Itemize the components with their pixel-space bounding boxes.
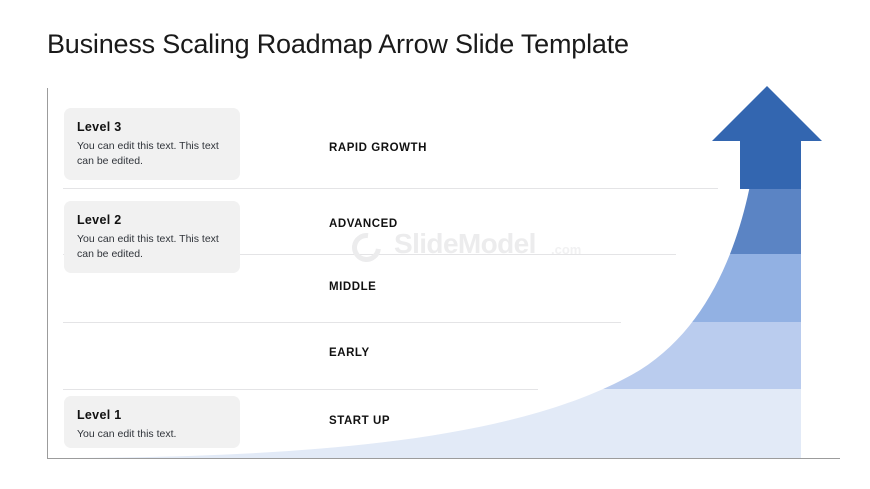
arrow-band-early xyxy=(40,322,810,389)
arrow-head-icon xyxy=(712,86,822,160)
level-card-1-title: Level 1 xyxy=(77,408,227,422)
chart-x-axis xyxy=(47,458,840,459)
level-card-2-body: You can edit this text. This text can be… xyxy=(77,232,227,261)
level-card-3-body: You can edit this text. This text can be… xyxy=(77,139,227,168)
stage-divider-1 xyxy=(63,188,718,189)
level-card-3[interactable]: Level 3 You can edit this text. This tex… xyxy=(64,108,240,180)
stage-divider-3 xyxy=(63,322,621,323)
stage-label-advanced: ADVANCED xyxy=(329,218,398,230)
stage-label-rapid-growth: RAPID GROWTH xyxy=(329,142,427,154)
stage-divider-4 xyxy=(63,389,538,390)
watermark-brand: SlideModel xyxy=(394,228,536,260)
stage-label-early: EARLY xyxy=(329,347,370,359)
level-card-2[interactable]: Level 2 You can edit this text. This tex… xyxy=(64,201,240,273)
level-card-3-title: Level 3 xyxy=(77,120,227,134)
slide-canvas: Business Scaling Roadmap Arrow Slide Tem… xyxy=(0,0,870,489)
watermark: SlideModel .com xyxy=(352,228,622,268)
level-card-2-title: Level 2 xyxy=(77,213,227,227)
arrow-shaft-top xyxy=(740,141,801,189)
stage-label-middle: MIDDLE xyxy=(329,281,376,293)
slidemodel-logo-icon xyxy=(346,227,387,268)
chart-y-axis xyxy=(47,88,48,459)
level-card-1-body: You can edit this text. xyxy=(77,427,227,442)
page-title: Business Scaling Roadmap Arrow Slide Tem… xyxy=(47,27,827,61)
level-card-1[interactable]: Level 1 You can edit this text. xyxy=(64,396,240,448)
stage-label-start-up: START UP xyxy=(329,415,390,427)
